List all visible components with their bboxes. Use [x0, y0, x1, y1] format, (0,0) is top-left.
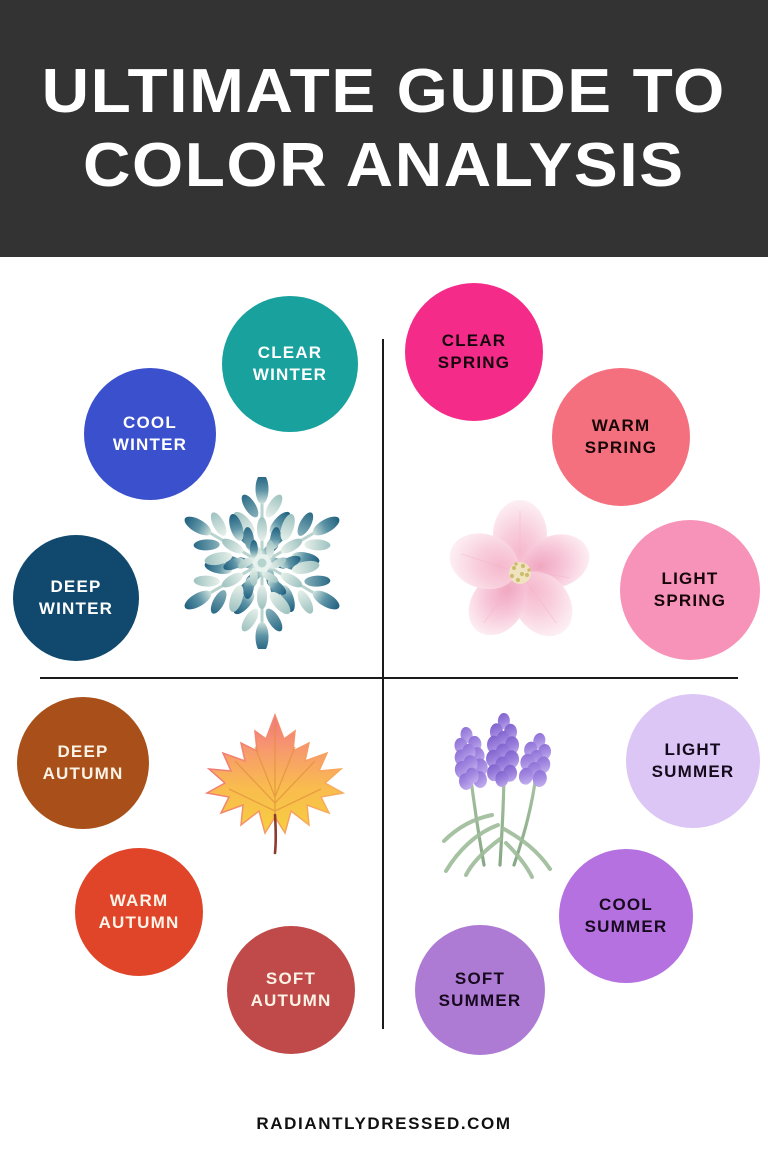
season-label-line-1: CLEAR — [442, 330, 507, 352]
season-label-line-2: AUTUMN — [43, 763, 124, 785]
season-bubble-autumn-1[interactable]: WARMAUTUMN — [75, 848, 203, 976]
season-label-line-2: SUMMER — [585, 916, 668, 938]
season-label-line-1: CLEAR — [258, 342, 323, 364]
season-label-line-2: AUTUMN — [99, 912, 180, 934]
footer: RADIANTLYDRESSED.COM — [0, 1095, 768, 1152]
page-title-line-2: COLOR ANALYSIS — [83, 134, 685, 197]
season-bubble-summer-2[interactable]: SOFTSUMMER — [415, 925, 545, 1055]
lavender-illustration — [414, 705, 584, 883]
season-quadrant-board: CLEARWINTERCOOLWINTERDEEPWINTERCLEARSPRI… — [0, 257, 768, 1095]
season-label-line-1: SOFT — [266, 968, 316, 990]
season-label-line-2: SPRING — [585, 437, 657, 459]
season-label-line-1: LIGHT — [662, 568, 719, 590]
season-label-line-1: COOL — [123, 412, 177, 434]
season-bubble-summer-1[interactable]: COOLSUMMER — [559, 849, 693, 983]
vertical-divider — [382, 339, 384, 1029]
page-title-line-1: ULTIMATE GUIDE TO — [42, 60, 726, 123]
season-label-line-2: SUMMER — [439, 990, 522, 1012]
season-bubble-autumn-0[interactable]: DEEPAUTUMN — [17, 697, 149, 829]
season-label-line-2: WINTER — [113, 434, 187, 456]
season-label-line-1: DEEP — [57, 741, 108, 763]
season-label-line-1: COOL — [599, 894, 653, 916]
season-label-line-1: SOFT — [455, 968, 505, 990]
maple-leaf-illustration — [186, 705, 364, 883]
season-bubble-winter-0[interactable]: CLEARWINTER — [222, 296, 358, 432]
season-bubble-spring-2[interactable]: LIGHTSPRING — [620, 520, 760, 660]
header-banner: ULTIMATE GUIDE TO COLOR ANALYSIS — [0, 0, 768, 257]
season-label-line-2: WINTER — [253, 364, 327, 386]
season-label-line-1: LIGHT — [665, 739, 722, 761]
website-url: RADIANTLYDRESSED.COM — [256, 1114, 511, 1134]
cherry-blossom-illustration — [440, 489, 600, 649]
snowflake-illustration — [176, 477, 348, 649]
season-label-line-2: SPRING — [654, 590, 726, 612]
season-label-line-1: WARM — [592, 415, 651, 437]
horizontal-divider — [40, 677, 738, 679]
season-label-line-2: SPRING — [438, 352, 510, 374]
season-bubble-winter-1[interactable]: COOLWINTER — [84, 368, 216, 500]
season-bubble-summer-0[interactable]: LIGHTSUMMER — [626, 694, 760, 828]
season-label-line-2: SUMMER — [652, 761, 735, 783]
season-bubble-spring-1[interactable]: WARMSPRING — [552, 368, 690, 506]
season-label-line-2: WINTER — [39, 598, 113, 620]
season-label-line-1: DEEP — [50, 576, 101, 598]
season-bubble-autumn-2[interactable]: SOFTAUTUMN — [227, 926, 355, 1054]
season-label-line-2: AUTUMN — [251, 990, 332, 1012]
season-bubble-winter-2[interactable]: DEEPWINTER — [13, 535, 139, 661]
season-label-line-1: WARM — [110, 890, 169, 912]
season-bubble-spring-0[interactable]: CLEARSPRING — [405, 283, 543, 421]
